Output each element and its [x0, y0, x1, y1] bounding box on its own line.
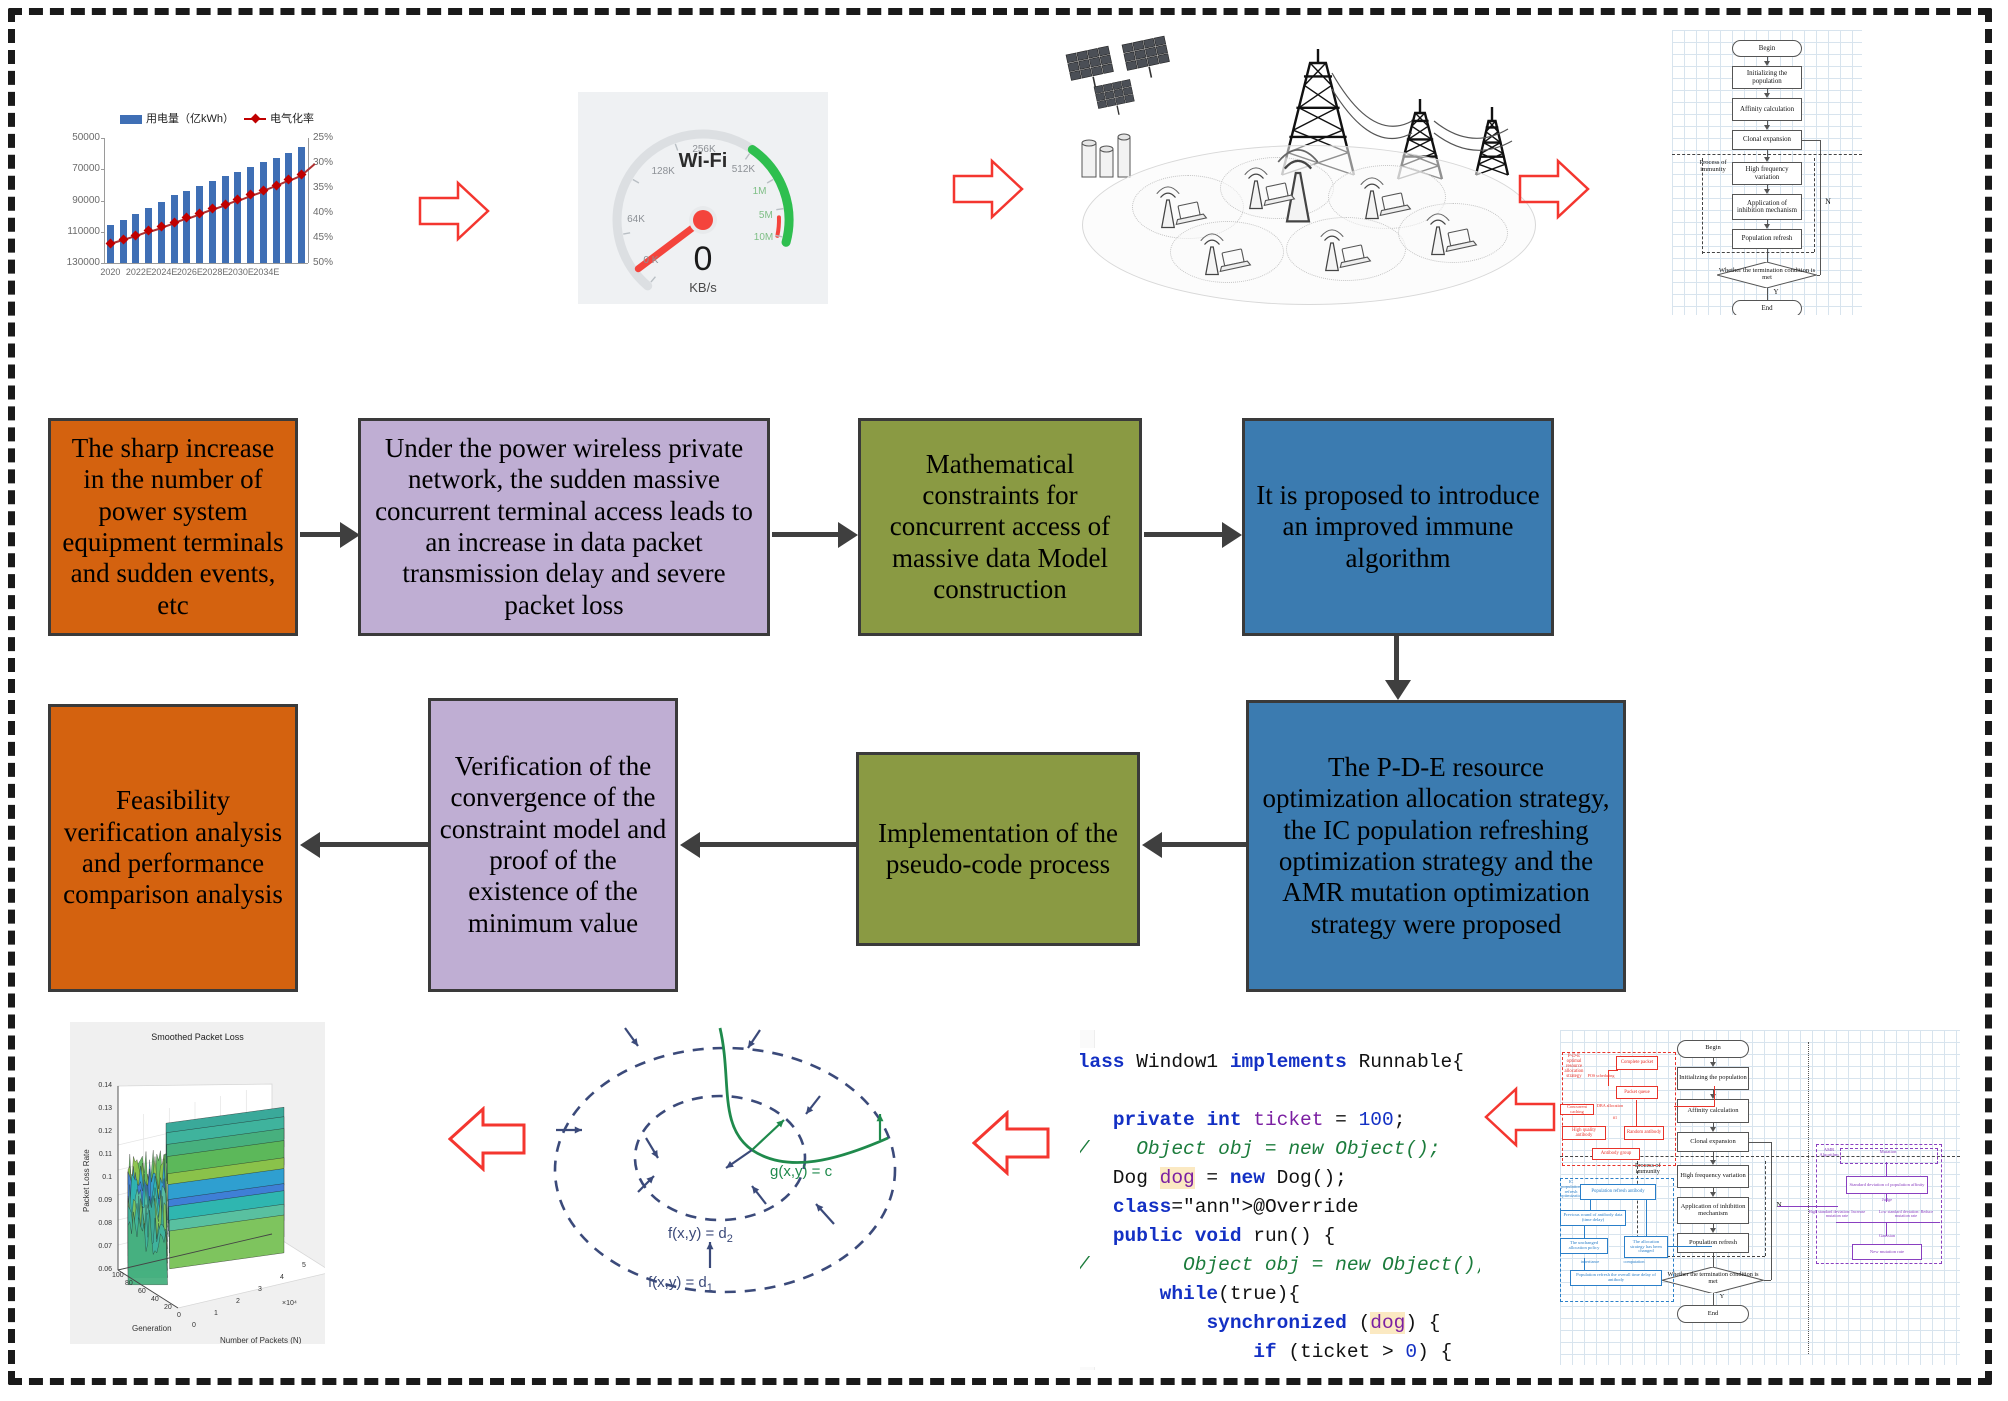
arrow-b7-b6	[680, 832, 856, 858]
surface-ztick-2: 0.12	[84, 1128, 112, 1135]
chart-y2tick-5: 50%	[313, 257, 333, 268]
process-box-1[interactable]: The sharp increase in the number of powe…	[48, 418, 298, 636]
surface-pkttick-4: 4	[280, 1274, 284, 1281]
process-box-3[interactable]: Mathematical constraints for concurrent …	[858, 418, 1142, 636]
contour-inner	[635, 1096, 805, 1220]
red-edge-pos: POS scheduling	[1584, 1074, 1618, 1078]
surface-ztick-8: 0.06	[84, 1266, 112, 1273]
chart-bar-8	[209, 181, 216, 263]
process-box-6[interactable]: Verification of the convergence of the c…	[428, 698, 678, 992]
gauge-unit: KB/s	[578, 280, 828, 295]
chart-xtick-0: 2020	[100, 267, 120, 277]
flow-node-init: Initializing the population	[1677, 1067, 1748, 1090]
gradient-arrow-1	[748, 1030, 760, 1048]
chart-bar-10	[234, 172, 241, 263]
gradient-arrow-3	[646, 1138, 658, 1158]
chart-y-axis	[104, 138, 105, 263]
gradient-arrow-5	[752, 1186, 766, 1204]
gauge-label-64K: 64K	[619, 214, 653, 225]
surface-gentick-1: 80	[125, 1280, 133, 1287]
purple-ln-1	[1886, 1162, 1887, 1176]
lagrange-svg	[520, 1010, 960, 1340]
process-box-4[interactable]: It is proposed to introduce an improved …	[1242, 418, 1554, 636]
process-box-2[interactable]: Under the power wireless private network…	[358, 418, 770, 636]
process-box-1-label: The sharp increase in the number of powe…	[59, 433, 287, 621]
flow-loop-vertical	[1820, 140, 1821, 275]
chart-xtick-6: 2034E	[253, 267, 279, 277]
flow-node-clonal: Clonal expansion	[1732, 130, 1802, 150]
constraint-curve	[720, 1028, 888, 1163]
process-box-5[interactable]: Feasibility verification analysis and pe…	[48, 704, 298, 992]
chart-legend-line-label: 电气化率	[270, 113, 314, 125]
flow-node-decision-label: Whether the termination condition is met	[1662, 1272, 1763, 1285]
flow-branch-yes: Y	[1769, 289, 1783, 296]
purple-node-std-dev: Standard deviation of population affinit…	[1846, 1176, 1928, 1194]
surface-pkttick-0: 0	[192, 1322, 196, 1329]
purple-edge-low-std: Low standard deviation: Reduce mutation …	[1872, 1210, 1940, 1219]
cell-devices-svg	[1060, 25, 1560, 310]
purple-ln-3	[1836, 1222, 1940, 1223]
objective-gradient-2	[707, 1242, 714, 1268]
chart-xtick-5: 2030E	[228, 267, 254, 277]
surface-gentick-0: 100	[112, 1272, 124, 1279]
surface-gentick-5: 0	[177, 1312, 181, 1319]
process-box-6-label: Verification of the convergence of the c…	[439, 751, 667, 939]
surface-ylabel: Packet Loss Rate	[82, 1149, 91, 1212]
flow-branch-no: N	[1822, 198, 1834, 206]
chart-bar-15	[298, 147, 305, 263]
cell-laptop-3	[1377, 192, 1411, 216]
blue-node-unchanged-policy: The unchanged allocation policy	[1560, 1238, 1608, 1254]
cell-tower-1	[1157, 187, 1180, 228]
chart-x-axis	[104, 263, 308, 264]
chart-bar-9	[222, 176, 229, 263]
purple-edge-high-std: High standard deviation: Increase mutati…	[1804, 1210, 1870, 1219]
flow-loop-bottom	[1764, 1280, 1771, 1281]
arrow-b1-b2	[300, 522, 360, 548]
flow-loop-bottom	[1817, 275, 1820, 276]
purple-node-new-rate: New mutation rate	[1852, 1244, 1922, 1260]
chart-legend-line: 电气化率	[244, 110, 314, 126]
chart-legend-bars: 用电量（亿kWh）	[120, 110, 234, 126]
contour-label-d1: f(x,y) = d1	[648, 1274, 713, 1294]
chart-bar-7	[196, 186, 203, 263]
chart-y2tick-1: 30%	[313, 157, 333, 168]
annotated-immune-flowchart: BeginInitializing the populationAffinity…	[1560, 1030, 1960, 1365]
arrow-b2-b3	[772, 522, 858, 548]
cell-tower-2	[1245, 168, 1268, 209]
flow-dash-top	[1672, 154, 1862, 155]
red-arrow-left-1	[1484, 1086, 1556, 1148]
purple-ln-2	[1886, 1194, 1887, 1202]
flow-node-inhibit: Application of inhibition mechanism	[1677, 1197, 1748, 1224]
blue-node-overall-delay: Population refresh the overall time dela…	[1570, 1270, 1662, 1286]
chart-ytick-0: 50000	[58, 132, 100, 143]
flow-node-clonal: Clonal expansion	[1677, 1132, 1748, 1152]
cell-laptop-5	[1337, 244, 1371, 268]
process-box-7[interactable]: Implementation of the pseudo-code proces…	[856, 752, 1140, 946]
chart-ytick-mark-0	[101, 138, 104, 139]
gradient-arrow-0	[625, 1028, 638, 1046]
blue-ln-3	[1584, 1226, 1585, 1238]
cell-tower-3	[1361, 178, 1384, 219]
red-node-concurrent-cache: Concurrent caching	[1560, 1104, 1594, 1115]
red-ln-1	[1608, 1070, 1609, 1086]
chart-bar-5	[171, 195, 178, 263]
flow-node-affinity: Affinity calculation	[1732, 98, 1802, 121]
red-edge-dba: DBA allocation	[1592, 1104, 1628, 1108]
chart-y2tick-4: 45%	[313, 232, 333, 243]
cell-tower-6	[1427, 214, 1450, 255]
surface-ztick-1: 0.13	[84, 1105, 112, 1112]
gradient-arrow-2	[556, 1127, 582, 1134]
flow-node-affinity: Affinity calculation	[1677, 1099, 1748, 1122]
surface-plot-title: Smoothed Packet Loss	[70, 1032, 325, 1042]
chart-y2-axis	[308, 138, 309, 263]
chart-ytick-4: 130000	[58, 257, 100, 268]
chart-ytick-3: 110000	[58, 226, 100, 237]
group-label-pde: P-D-E optimal resource allocation strate…	[1562, 1054, 1586, 1079]
red-arrow-right-1	[418, 180, 490, 242]
chart-bar-13	[273, 158, 280, 263]
purple-edge-gaussian: Gaussian	[1846, 1234, 1928, 1239]
red-ln-5	[1714, 1086, 1715, 1107]
chart-ytick-mark-1	[101, 169, 104, 170]
surface-pkttick-1: 1	[214, 1310, 218, 1317]
surface-xlabel: Generation	[132, 1324, 172, 1333]
cell-tower-4	[1201, 234, 1224, 275]
purple-edge-judge: Judge	[1846, 1198, 1928, 1203]
cell-tower-5	[1321, 230, 1344, 271]
process-box-2-label: Under the power wireless private network…	[369, 433, 759, 621]
chart-ytick-mark-2	[101, 201, 104, 202]
gauge-tick-2	[633, 180, 639, 184]
flow-edge-decision-end	[1713, 1293, 1714, 1305]
group-label-amr: AMR Algorithm	[1816, 1148, 1842, 1158]
chart-ytick-2: 90000	[58, 195, 100, 206]
red-ln-2	[1608, 1070, 1618, 1071]
cell-laptop-2	[1261, 182, 1295, 206]
process-box-5-label: Feasibility verification analysis and pe…	[59, 785, 287, 910]
surface-ztick-6: 0.08	[84, 1220, 112, 1227]
surface-gentick-3: 40	[151, 1296, 159, 1303]
purple-node-mutation: Mutation	[1842, 1150, 1934, 1155]
contour-label-d1-sub: 1	[707, 1282, 713, 1294]
annot-page-separator	[1808, 1042, 1809, 1354]
flow-node-decision-label: Whether the termination condition is met	[1717, 268, 1816, 282]
chart-xtick-2: 2024E	[151, 267, 177, 277]
blue-node-changed-strategy: The allocation strategy has been changed	[1624, 1236, 1668, 1258]
power-wireless-network-illustration	[1060, 25, 1560, 310]
cell-laptop-4	[1217, 248, 1251, 272]
flow-edge-refresh-decision	[1767, 249, 1768, 262]
process-box-8-label: The P-D-E resource optimization allocati…	[1257, 752, 1615, 940]
electricity-consumption-chart: 用电量（亿kWh）电气化率500007000090000110000130000…	[58, 108, 346, 293]
immune-algorithm-flowchart: BeginInitializing the populationAffinity…	[1672, 30, 1862, 315]
surface-gentick-4: 20	[164, 1304, 172, 1311]
flow-node-highfreq: High frequency variation	[1732, 162, 1802, 185]
flow-loop-top	[1802, 140, 1820, 141]
chart-ytick-1: 70000	[58, 163, 100, 174]
gauge-title: Wi-Fi	[578, 150, 828, 173]
figure-canvas: 用电量（亿kWh）电气化率500007000090000110000130000…	[0, 0, 2008, 1401]
chart-bar-11	[247, 167, 254, 263]
gradient-arrow-6	[816, 1204, 834, 1224]
flow-dash-right	[1765, 1161, 1766, 1257]
arrow-b6-b5	[300, 832, 428, 858]
process-box-8[interactable]: The P-D-E resource optimization allocati…	[1246, 700, 1626, 992]
flow-node-begin: Begin	[1732, 40, 1802, 57]
constraint-label: g(x,y) = c	[770, 1163, 832, 1180]
red-node-packet-queue: Packet queue	[1616, 1086, 1658, 1099]
process-box-7-label: Implementation of the pseudo-code proces…	[867, 818, 1129, 881]
process-box-4-label: It is proposed to introduce an improved …	[1253, 480, 1543, 574]
flow-node-end: End	[1732, 300, 1802, 315]
flow-node-inhibit: Application of inhibition mechanism	[1732, 194, 1802, 220]
red-node-complete-packet: Complete packet	[1616, 1056, 1658, 1070]
chart-y2tick-3: 40%	[313, 207, 333, 218]
chart-y2tick-2: 35%	[313, 182, 333, 193]
flow-branch-yes: Y	[1715, 1294, 1729, 1301]
surface-ztick-0: 0.14	[84, 1082, 112, 1089]
surface-gentick-2: 60	[138, 1288, 146, 1295]
packet-loss-surface-plot: Smoothed Packet Loss0.140.130.120.110.10…	[70, 1022, 325, 1344]
surface-ztick-7: 0.07	[84, 1243, 112, 1250]
blue-edge-computation: computation	[1612, 1260, 1656, 1264]
flow-edge-decision-end	[1767, 288, 1768, 300]
flow-node-refresh: Population refresh	[1677, 1233, 1748, 1253]
gauge-tick-1	[623, 233, 630, 234]
red-ln-4	[1674, 1106, 1714, 1107]
blue-node-refresh-antibody: Population refresh antibody	[1580, 1184, 1656, 1200]
gauge-value: 0	[578, 240, 828, 279]
code-block: class Window1 implements Runnable{ priva…	[1080, 1048, 1480, 1367]
surface-pkttick-3: 3	[258, 1286, 262, 1293]
red-arrow-right-2	[952, 158, 1024, 220]
gradient-arrow-7	[806, 1096, 820, 1114]
contour-label-d2-sub: 2	[727, 1233, 733, 1245]
cell-laptop-1	[1173, 201, 1207, 225]
chart-ytick-mark-4	[101, 263, 104, 264]
arrow-b4-b8	[1383, 636, 1413, 700]
process-box-3-label: Mathematical constraints for concurrent …	[869, 449, 1131, 606]
surface-pkttick-2: 2	[236, 1298, 240, 1305]
surface-plot-svg	[70, 1022, 325, 1344]
flow-loop-top	[1749, 1142, 1771, 1143]
gauge-hub	[693, 210, 713, 230]
surface-exponent: ×10⁴	[282, 1300, 297, 1307]
cell-laptop-6	[1443, 228, 1477, 252]
red-arrow-right-3	[1518, 158, 1590, 220]
chart-ytick-mark-3	[101, 232, 104, 233]
red-node-antibody-group: Antibody group	[1592, 1148, 1640, 1160]
chart-bar-12	[260, 162, 267, 263]
flow-edge-refresh-decision	[1713, 1253, 1714, 1266]
red-arrow-left-2	[972, 1110, 1050, 1176]
red-arrow-left-3	[448, 1106, 526, 1172]
chart-y2tick-0: 25%	[313, 132, 333, 143]
surface-x2label: Number of Packets (N)	[220, 1336, 301, 1344]
arrow-b3-b4	[1144, 522, 1242, 548]
flow-node-refresh: Population refresh	[1732, 229, 1802, 249]
blue-edge-inheritance: inheritance	[1570, 1260, 1610, 1264]
red-node-random-antibody: Random antibody	[1624, 1126, 1664, 1140]
constraint-gradient-1	[752, 1120, 784, 1150]
contour-label-d2: f(x,y) = d2	[668, 1225, 733, 1245]
gauge-label-1M: 1M	[743, 186, 777, 197]
flow-dash-bottom	[1702, 252, 1814, 253]
java-code-snippet: class Window1 implements Runnable{ priva…	[1080, 1030, 1480, 1370]
flow-dash-right	[1814, 158, 1815, 252]
flow-node-end: End	[1677, 1305, 1748, 1322]
blue-ln-2	[1646, 1200, 1647, 1236]
surface-pkttick-5: 5	[302, 1262, 306, 1269]
chart-bar-4	[158, 202, 165, 263]
arrow-b8-b7	[1142, 832, 1246, 858]
flow-node-begin: Begin	[1677, 1040, 1748, 1057]
red-node-high-quality-antibody: High quality antibody	[1562, 1126, 1606, 1140]
blue-node-prev-round: Previous round of antibody data (time de…	[1560, 1210, 1626, 1226]
chart-bar-6	[183, 191, 190, 263]
purple-ln-4	[1886, 1222, 1887, 1236]
chart-xtick-3: 2026E	[177, 267, 203, 277]
chart-xtick-4: 2028E	[202, 267, 228, 277]
contour-outer	[555, 1048, 895, 1292]
blue-ln-1	[1590, 1200, 1591, 1210]
flow-node-highfreq: High frequency variation	[1677, 1165, 1748, 1188]
flow-loop-vertical	[1771, 1142, 1772, 1280]
blue-ln-4	[1584, 1258, 1585, 1270]
gauge-tick-5	[767, 180, 773, 184]
flow-node-init: Initializing the population	[1732, 66, 1802, 89]
gauge-label-5M: 5M	[749, 210, 783, 221]
red-ln-3	[1636, 1100, 1637, 1126]
group-label-ic: IC population refresh optimization	[1560, 1180, 1582, 1199]
chart-bar-14	[285, 153, 292, 263]
red-edge-hash1: #1	[1608, 1116, 1622, 1120]
chart-xtick-1: 2022E	[126, 267, 152, 277]
wifi-speed-gauge: 256K128K64K0 K512K1M5M10MWi-Fi0KB/s	[578, 92, 828, 304]
lagrange-contour-diagram: g(x,y) = cf(x,y) = d2f(x,y) = d1	[520, 1010, 960, 1340]
flow-immunity-label: Process of immunity	[1698, 160, 1728, 174]
chart-legend-bars-label: 用电量（亿kWh）	[146, 113, 234, 125]
objective-gradient-1	[726, 1150, 752, 1168]
blue-ln-5	[1668, 1246, 1712, 1247]
